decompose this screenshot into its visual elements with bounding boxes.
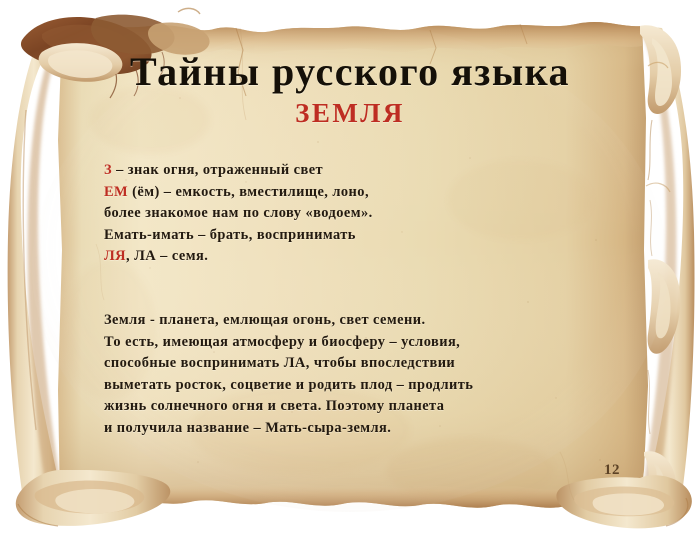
text-line: более знакомое нам по слову «водоем».	[104, 203, 604, 225]
text-line: ЛЯ, ЛА – семя.	[104, 246, 604, 268]
text-line: ЕМ (ём) – емкость, вместилище, лоно,	[104, 182, 604, 204]
text-line: Емать-имать – брать, воспринимать	[104, 225, 604, 247]
text-line: Земля - планета, емлющая огонь, свет сем…	[104, 310, 604, 332]
body-text: Емать-имать – брать, воспринимать	[104, 227, 356, 243]
text-line: способные воспринимать ЛА, чтобы впослед…	[104, 353, 604, 375]
definitions-paragraph: З – знак огня, отраженный светЕМ (ём) – …	[104, 160, 604, 268]
body-text: Земля - планета, емлющая огонь, свет сем…	[104, 312, 426, 328]
body-text: – знак огня, отраженный свет	[112, 162, 323, 178]
text-line: выметать росток, соцветие и родить плод …	[104, 375, 604, 397]
body-text: и получила название – Мать-сыра-земля.	[104, 420, 391, 436]
highlight-text: ЛЯ	[104, 248, 126, 264]
page-number: 12	[604, 462, 620, 479]
body-text: , ЛА – семя.	[126, 248, 208, 264]
body-text: выметать росток, соцветие и родить плод …	[104, 377, 473, 393]
left-bottom-scroll-curl	[16, 470, 170, 526]
body-text: То есть, имеющая атмосферу и биосферу – …	[104, 334, 460, 350]
text-line: жизнь солнечного огня и света. Поэтому п…	[104, 396, 604, 418]
highlight-text: З	[104, 162, 112, 178]
body-text: способные воспринимать ЛА, чтобы впослед…	[104, 355, 455, 371]
page-subtitle: ЗЕМЛЯ	[60, 98, 640, 129]
right-bottom-scroll-curl	[556, 475, 691, 528]
title-block: Тайны русского языка ЗЕМЛЯ	[60, 52, 640, 129]
text-line: То есть, имеющая атмосферу и биосферу – …	[104, 332, 604, 354]
page-title: Тайны русского языка	[60, 52, 640, 92]
body-text: (ём) – емкость, вместилище, лоно,	[128, 184, 369, 200]
text-line: З – знак огня, отраженный свет	[104, 160, 604, 182]
highlight-text: ЕМ	[104, 184, 128, 200]
explanation-paragraph: Земля - планета, емлющая огонь, свет сем…	[104, 310, 604, 439]
body-text: более знакомое нам по слову «водоем».	[104, 205, 373, 221]
text-line: и получила название – Мать-сыра-земля.	[104, 418, 604, 440]
body-text: жизнь солнечного огня и света. Поэтому п…	[104, 398, 444, 414]
